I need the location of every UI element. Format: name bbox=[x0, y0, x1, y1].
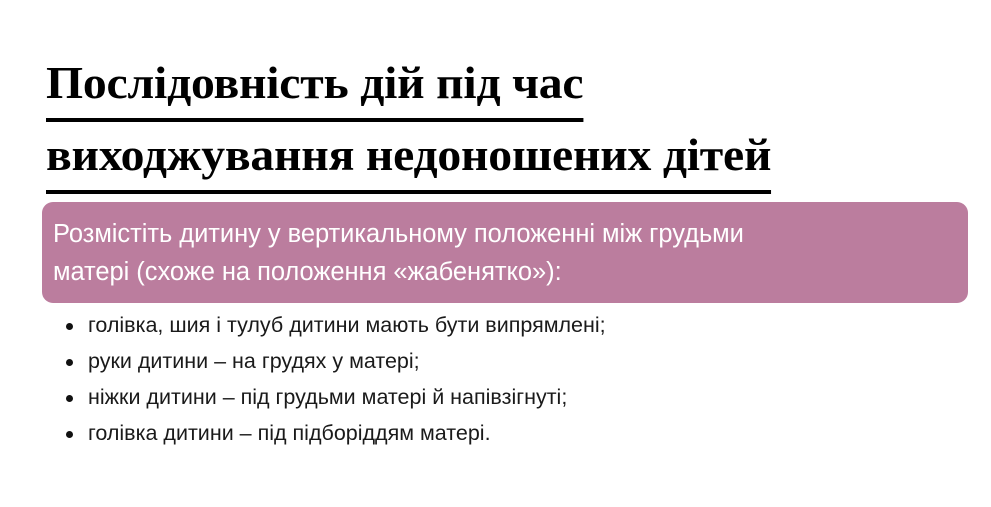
list-item-label: ніжки дитини – під грудьми матері й напі… bbox=[88, 385, 567, 409]
page-title-line-1: Послідовність дій під час bbox=[46, 50, 981, 122]
page-title: Послідовність дій під час виходжування н… bbox=[46, 50, 981, 194]
list-item-label: голівка дитини – під підборіддям матері. bbox=[88, 421, 491, 445]
page-title-line-2-text: виходжування недоношених дітей bbox=[46, 122, 771, 194]
bullet-dot-icon bbox=[66, 323, 73, 330]
page-title-line-1-text: Послідовність дій під час bbox=[46, 50, 583, 122]
bullet-list: голівка, шия і тулуб дитини мають бути в… bbox=[64, 312, 964, 447]
bullet-dot-icon bbox=[66, 431, 73, 438]
list-item: голівка дитини – під підборіддям матері. bbox=[64, 420, 964, 447]
list-item: руки дитини – на грудях у матері; bbox=[64, 348, 964, 375]
bullet-dot-icon bbox=[66, 395, 73, 402]
list-item: ніжки дитини – під грудьми матері й напі… bbox=[64, 384, 964, 411]
list-item-label: голівка, шия і тулуб дитини мають бути в… bbox=[88, 313, 606, 337]
page-title-line-2: виходжування недоношених дітей bbox=[46, 122, 981, 194]
slide-root: Послідовність дій під час виходжування н… bbox=[0, 0, 991, 507]
list-item-label: руки дитини – на грудях у матері; bbox=[88, 349, 420, 373]
instruction-banner-line-2: матері (схоже на положення «жабенятко»): bbox=[53, 253, 952, 291]
instruction-banner-line-1: Розмістіть дитину у вертикальному положе… bbox=[53, 215, 952, 253]
list-item: голівка, шия і тулуб дитини мають бути в… bbox=[64, 312, 964, 339]
instruction-banner: Розмістіть дитину у вертикальному положе… bbox=[42, 202, 968, 303]
bullet-dot-icon bbox=[66, 359, 73, 366]
